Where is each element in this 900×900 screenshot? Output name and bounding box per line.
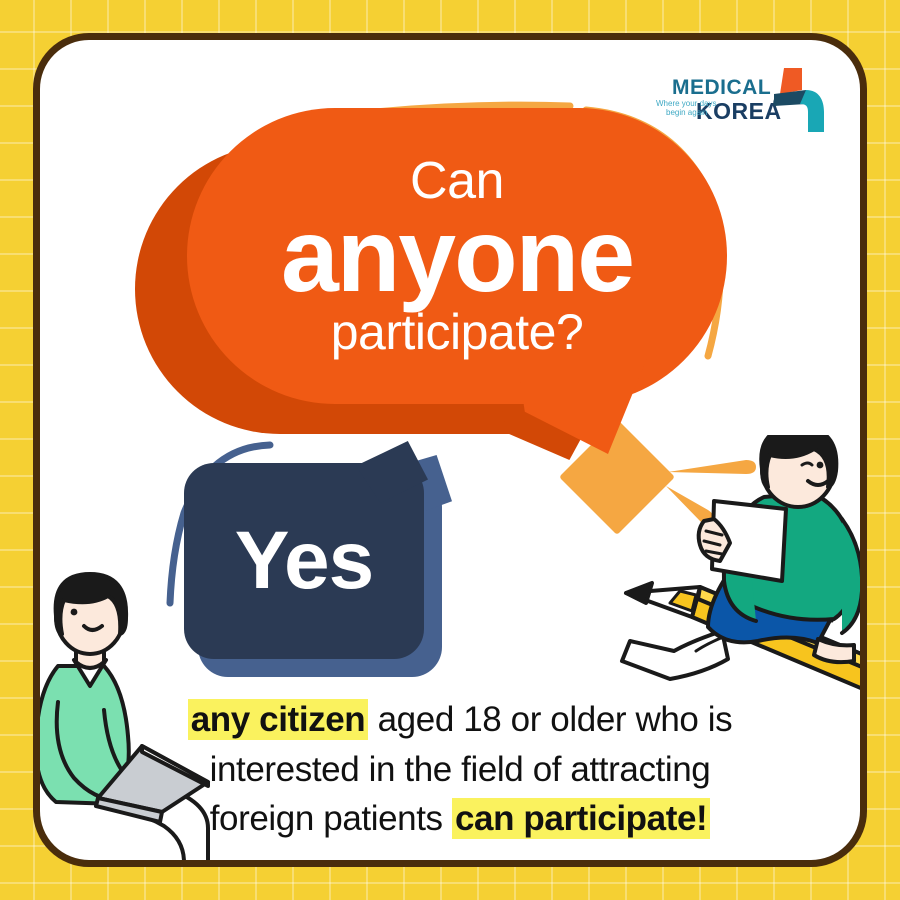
logo-tagline-line2: begin again [666, 108, 707, 117]
question-line-anyone: anyone [281, 203, 633, 309]
logo-tagline-line1: Where your days [656, 99, 716, 108]
logo-medical-text: MEDICAL [672, 76, 771, 99]
content-card: MEDICAL KOREA Where your days begin agai… [33, 33, 867, 867]
question-bubble-text: Can anyone participate? [187, 108, 727, 404]
woman-with-laptop-illustration [33, 562, 262, 867]
highlight-can-participate: can participate! [452, 798, 710, 839]
man-on-pencil-illustration [596, 435, 867, 725]
medical-korea-logo: MEDICAL KOREA Where your days begin agai… [656, 64, 824, 134]
question-line-participate: participate? [331, 307, 584, 357]
logo-svg: MEDICAL KOREA Where your days begin agai… [656, 64, 824, 134]
question-speech-bubble: Can anyone participate? [135, 108, 725, 448]
poster-background: MEDICAL KOREA Where your days begin agai… [0, 0, 900, 900]
